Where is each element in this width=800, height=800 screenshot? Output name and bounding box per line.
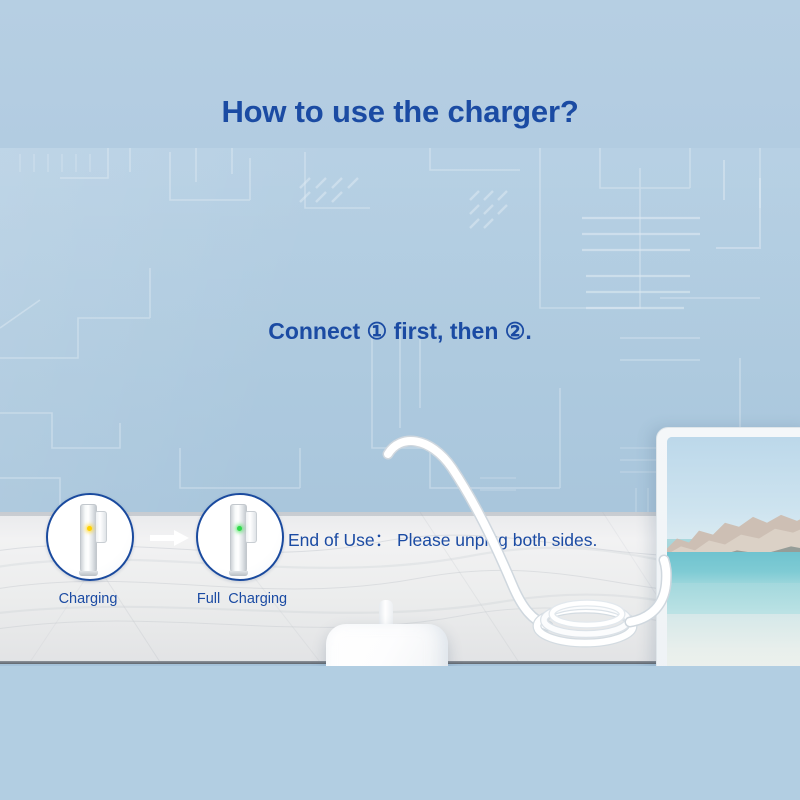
page-subtitle: Connect ① first, then ②. [0, 318, 800, 345]
arrow-right-icon [150, 529, 190, 547]
led-amber-icon [87, 526, 92, 531]
status-icon-charging [46, 493, 134, 581]
power-adapter [326, 624, 448, 666]
wallpaper-sand [667, 614, 800, 666]
label-charging: Charging [38, 591, 138, 607]
laptop-screen [667, 437, 800, 666]
label-full-charging: Full Charging [184, 591, 300, 607]
product-scene-photo: Connect ① first, then ②. [0, 148, 800, 666]
infographic-canvas: How to use the charger? [0, 0, 800, 800]
wallpaper-sea-shallow [667, 583, 800, 616]
charging-status-group: Charging Full Charging [44, 493, 334, 618]
magsafe-connector-icon [226, 504, 258, 574]
bottom-color-band [0, 666, 800, 800]
status-icon-full-charging [196, 493, 284, 581]
magsafe-connector-icon [76, 504, 108, 574]
wallpaper-sea-deep [667, 552, 800, 585]
led-green-icon [237, 526, 242, 531]
page-title: How to use the charger? [0, 94, 800, 130]
laptop [648, 427, 800, 666]
note-end-of-use: End of Use： Please unplug both sides. [288, 527, 597, 552]
laptop-lid [656, 427, 800, 666]
